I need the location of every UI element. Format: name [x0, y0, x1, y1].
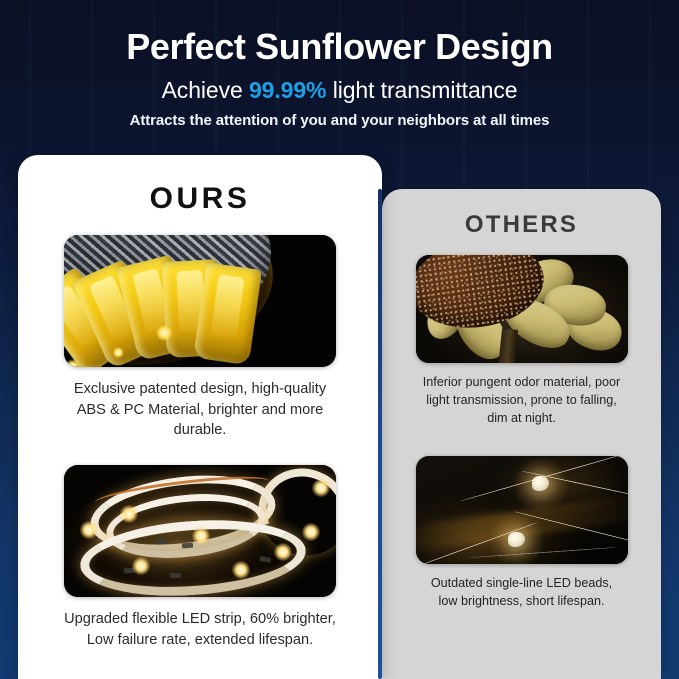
others-item-1: Inferior pungent odor material, poor lig… — [382, 255, 661, 428]
page-title: Perfect Sunflower Design — [0, 26, 679, 68]
comparison-section: OTHERS — [18, 155, 661, 679]
others-heading: OTHERS — [382, 189, 661, 239]
single-line-led-beads-photo — [416, 456, 628, 564]
ours-panel: OURS — [18, 155, 382, 679]
others-panel: OTHERS — [382, 189, 661, 679]
others-caption-2: Outdated single-line LED beads, low brig… — [382, 575, 661, 611]
subtitle-suffix: light transmittance — [326, 77, 517, 103]
header: Perfect Sunflower Design Achieve 99.99% … — [0, 0, 679, 129]
ours-heading: OURS — [18, 155, 382, 216]
dull-sunflower-photo — [416, 255, 628, 363]
infographic-stage: Perfect Sunflower Design Achieve 99.99% … — [0, 0, 679, 679]
others-item-2: Outdated single-line LED beads, low brig… — [382, 456, 661, 611]
subtitle-prefix: Achieve — [162, 77, 249, 103]
sunflower-solar-panel-photo — [64, 235, 336, 367]
panel-divider — [378, 189, 382, 679]
subtitle: Achieve 99.99% light transmittance — [0, 77, 679, 104]
led-bead — [532, 476, 549, 491]
led-bead — [508, 532, 525, 547]
tagline: Attracts the attention of you and your n… — [0, 112, 679, 129]
others-caption-1: Inferior pungent odor material, poor lig… — [382, 374, 661, 428]
ours-caption-2: Upgraded flexible LED strip, 60% brighte… — [18, 609, 382, 650]
ours-caption-1: Exclusive patented design, high-quality … — [18, 379, 382, 441]
flexible-led-strip-photo — [64, 465, 336, 597]
ours-item-2: Upgraded flexible LED strip, 60% brighte… — [18, 465, 382, 650]
ours-item-1: Exclusive patented design, high-quality … — [18, 235, 382, 441]
transmittance-value: 99.99% — [249, 77, 326, 103]
